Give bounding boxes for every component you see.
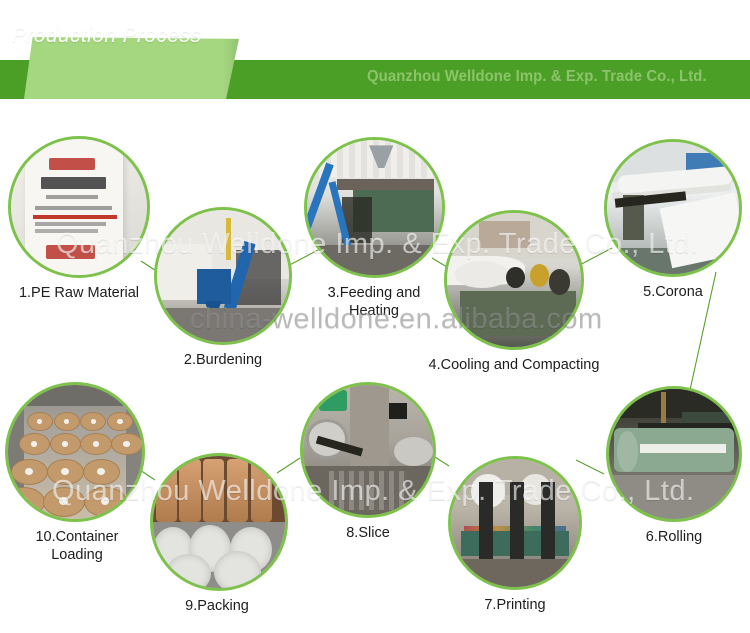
step-photo-3[interactable] bbox=[304, 137, 445, 278]
feeding-heating-extruder-icon bbox=[307, 140, 442, 275]
step-caption-2: 2.Burdening bbox=[148, 351, 298, 369]
step-caption-6: 6.Rolling bbox=[614, 528, 734, 546]
printing-press-icon bbox=[451, 459, 579, 587]
step-caption-8: 8.Slice bbox=[307, 524, 429, 542]
rolling-machine-icon bbox=[609, 389, 739, 519]
pe-raw-material-bag-icon bbox=[11, 139, 147, 275]
step-photo-4[interactable] bbox=[444, 210, 584, 350]
slitting-machine-icon bbox=[303, 385, 433, 515]
step-photo-1[interactable] bbox=[8, 136, 150, 278]
packed-fabric-rolls-icon bbox=[153, 456, 285, 588]
step-photo-7[interactable] bbox=[448, 456, 582, 590]
step-photo-9[interactable] bbox=[150, 453, 288, 591]
container-loading-rolls-icon bbox=[8, 385, 142, 519]
step-photo-6[interactable] bbox=[606, 386, 742, 522]
step-photo-8[interactable] bbox=[300, 382, 436, 518]
cooling-compacting-rollers-icon bbox=[447, 213, 581, 347]
corona-treatment-unit-icon bbox=[607, 142, 739, 274]
step-caption-3: 3.Feeding and Heating bbox=[308, 284, 440, 320]
step-photo-2[interactable] bbox=[154, 207, 292, 345]
step-caption-10: 10.Container Loading bbox=[4, 528, 150, 564]
step-caption-5: 5.Corona bbox=[614, 283, 732, 301]
step-caption-9: 9.Packing bbox=[152, 597, 282, 615]
step-caption-1: 1.PE Raw Material bbox=[1, 284, 157, 302]
connector-6-7 bbox=[576, 460, 604, 474]
step-photo-10[interactable] bbox=[5, 382, 145, 522]
step-caption-4: 4.Cooling and Compacting bbox=[416, 356, 612, 374]
burdening-blue-machine-icon bbox=[157, 210, 289, 342]
step-caption-7: 7.Printing bbox=[449, 596, 581, 614]
step-photo-5[interactable] bbox=[604, 139, 742, 277]
production-process-infographic: Production Process Quanzhou Welldone Imp… bbox=[0, 0, 750, 633]
